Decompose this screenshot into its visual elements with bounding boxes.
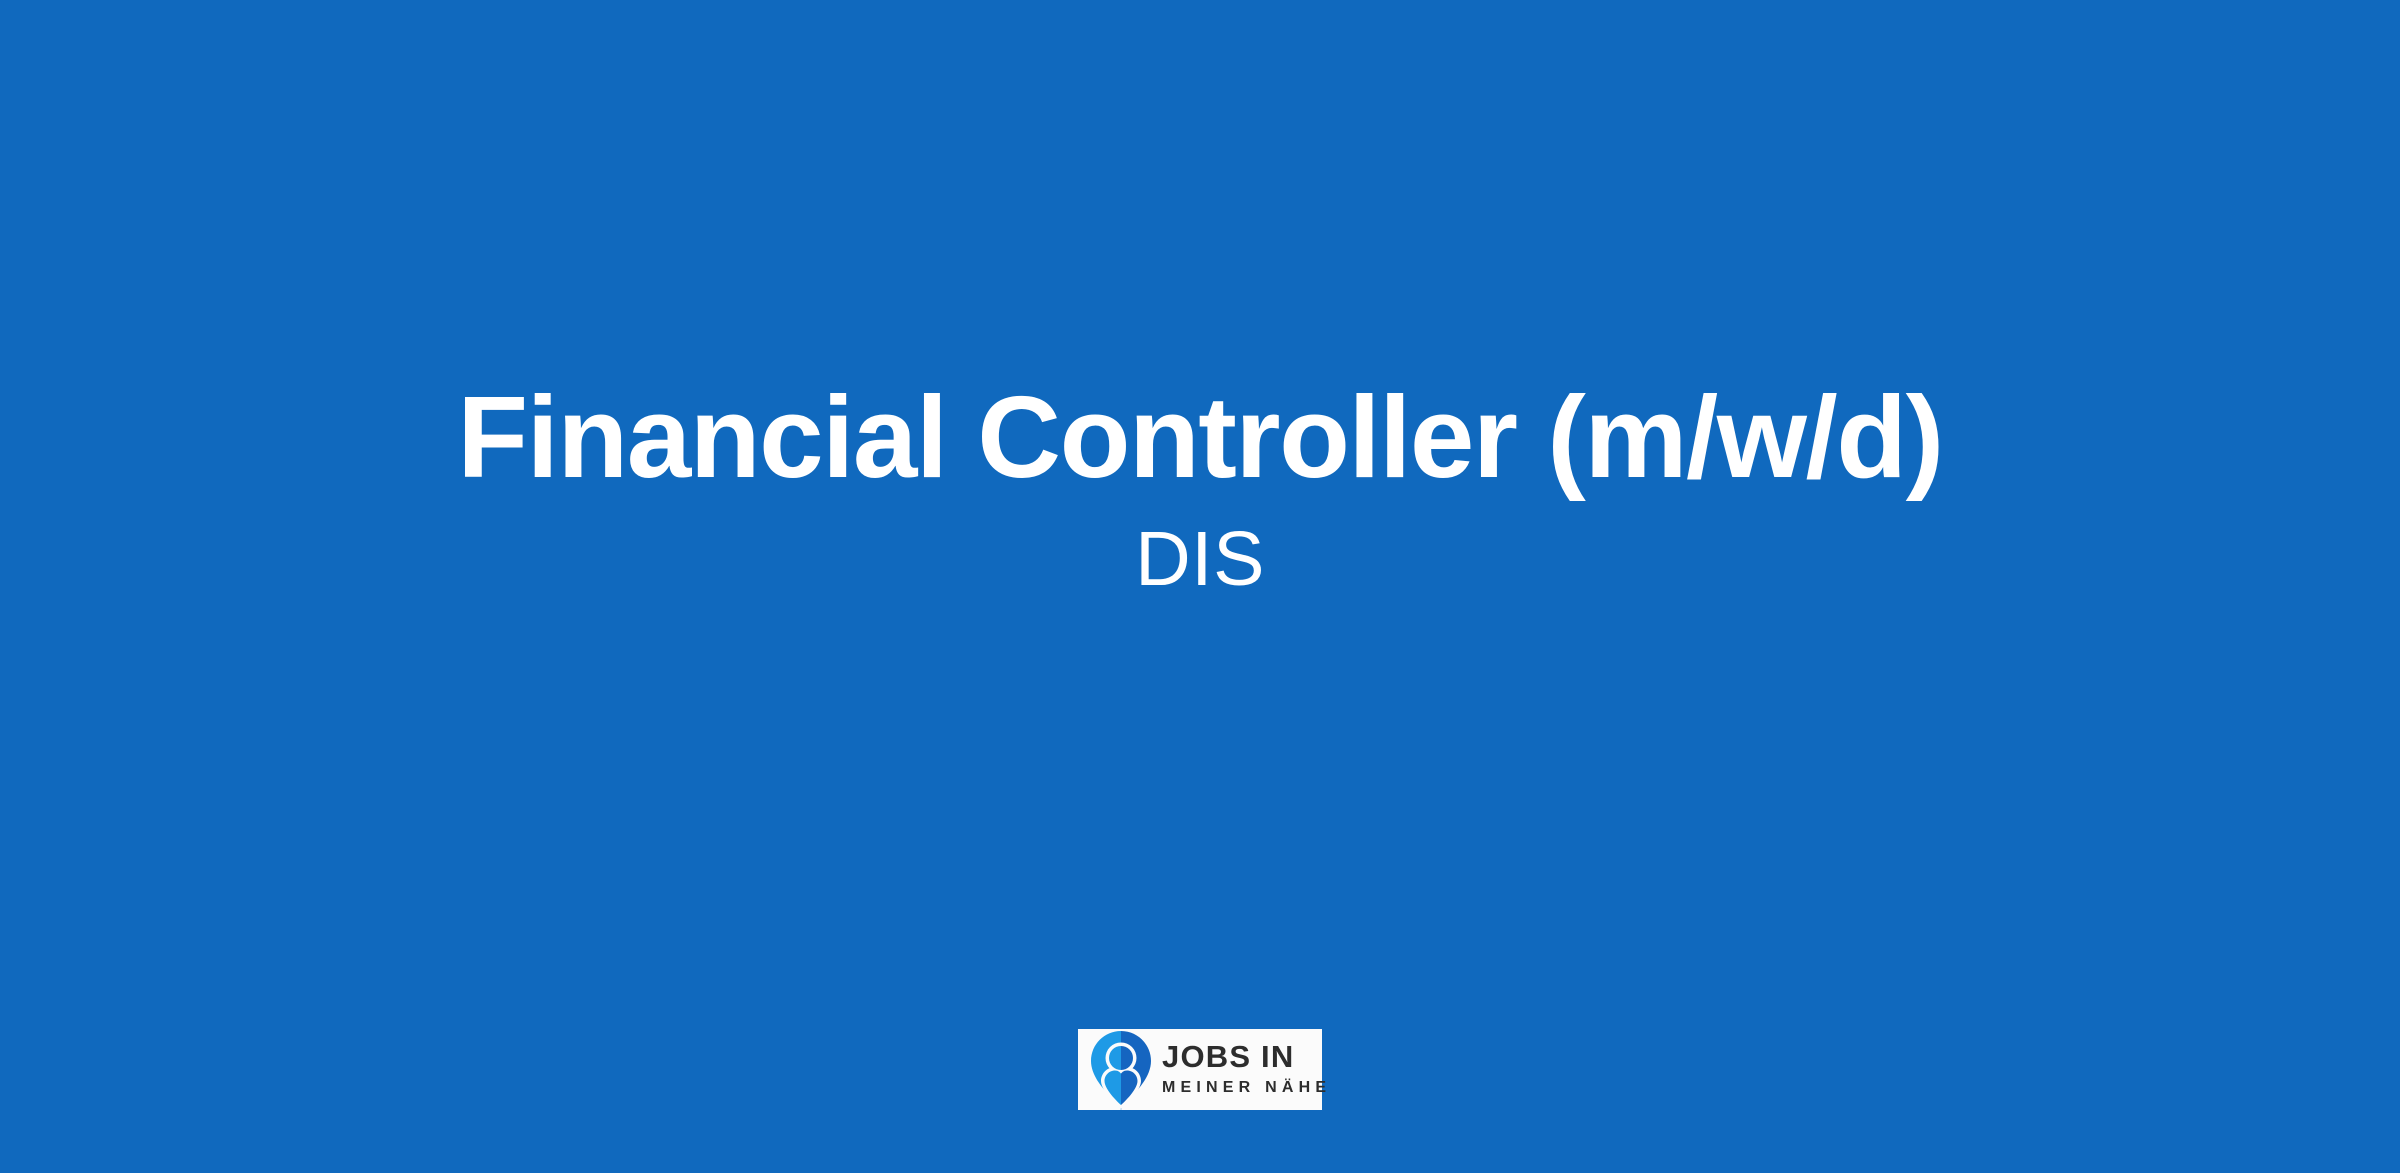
company-name: DIS [1135, 517, 1265, 602]
map-pin-person-icon [1090, 1030, 1152, 1112]
logo-wordmark: JOBS IN MEINER NÄHE [1162, 1041, 1331, 1098]
logo-line-primary: JOBS IN [1162, 1041, 1294, 1072]
logo-line-secondary: MEINER NÄHE [1162, 1080, 1331, 1096]
headline-block: Financial Controller (m/w/d) DIS [0, 0, 2400, 1010]
job-posting-share-card: Financial Controller (m/w/d) DIS [0, 0, 2400, 1173]
brand-logo[interactable]: JOBS IN MEINER NÄHE [1078, 1029, 1322, 1110]
page-title: Financial Controller (m/w/d) [457, 373, 1942, 503]
